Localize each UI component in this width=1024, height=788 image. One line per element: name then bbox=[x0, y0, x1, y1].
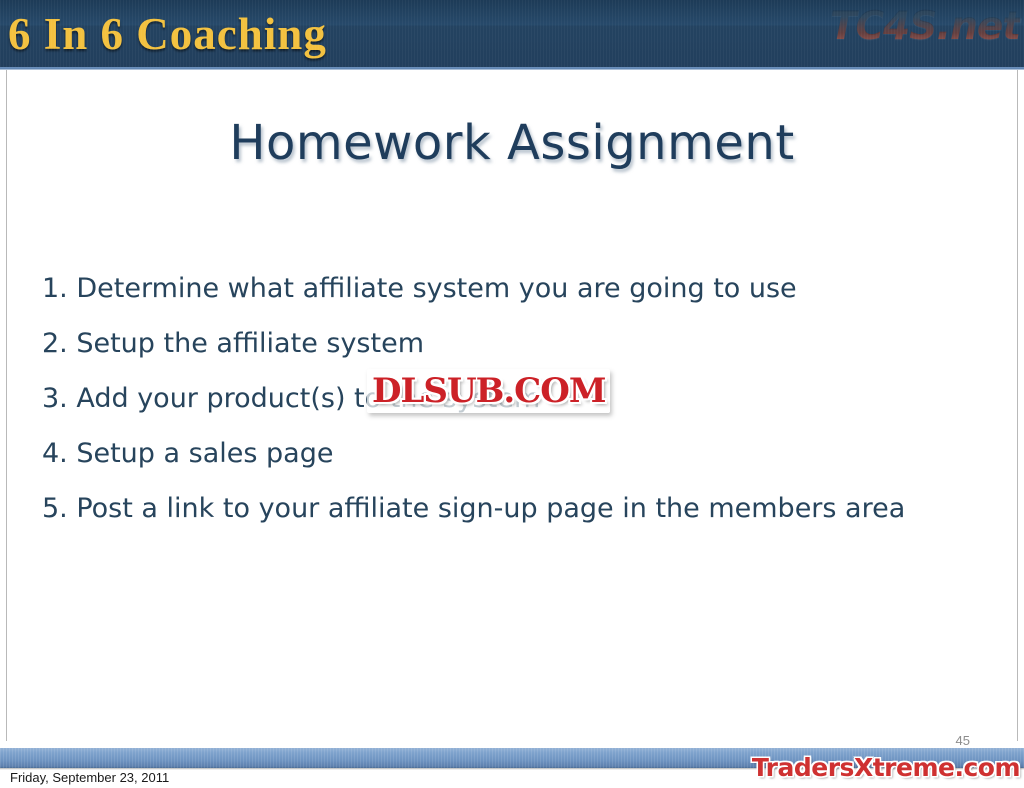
slide-header-banner: 6 In 6 Coaching TC4S.net bbox=[0, 0, 1024, 67]
list-item: 4. Setup a sales page bbox=[42, 437, 982, 470]
brand-title-text: 6 In 6 Coaching bbox=[8, 9, 327, 59]
presentation-slide: 6 In 6 Coaching TC4S.net Homework Assign… bbox=[0, 0, 1024, 788]
site-logo-text: TC4S.net bbox=[830, 4, 1020, 49]
list-item: 2. Setup the affiliate system bbox=[42, 327, 982, 360]
dlsub-watermark: DLSUB.COM bbox=[367, 369, 610, 413]
brand-title: 6 In 6 Coaching bbox=[8, 6, 327, 62]
footer-date: Friday, September 23, 2011 bbox=[10, 768, 169, 788]
list-item: 5. Post a link to your affiliate sign-up… bbox=[42, 492, 982, 525]
site-logo: TC4S.net bbox=[830, 2, 1020, 52]
slide-page-number: 45 bbox=[956, 733, 970, 748]
header-underline-rule bbox=[0, 67, 1024, 70]
tradersxtreme-logo: TradersXtreme.com bbox=[752, 752, 1020, 784]
page-title: Homework Assignment bbox=[0, 115, 1024, 171]
list-item: 1. Determine what affiliate system you a… bbox=[42, 272, 982, 305]
